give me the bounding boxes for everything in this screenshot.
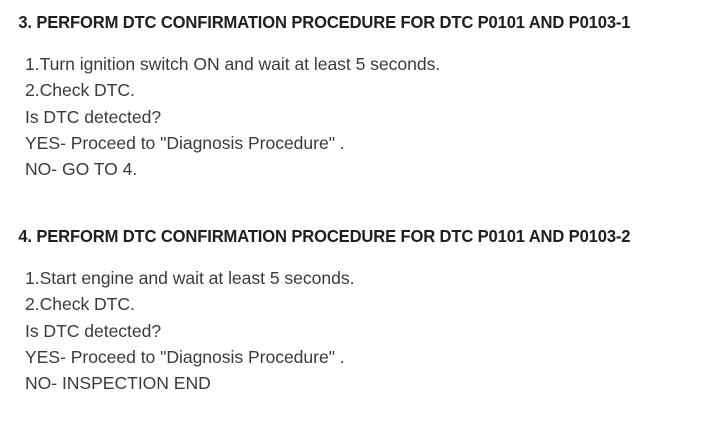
section-4-answer-no: NO- INSPECTION END	[25, 370, 725, 396]
section-3-step-2: 2.Check DTC.	[25, 77, 725, 103]
section-4-heading: 4. PERFORM DTC CONFIRMATION PROCEDURE FO…	[0, 224, 700, 248]
procedure-section-3: 3. PERFORM DTC CONFIRMATION PROCEDURE FO…	[0, 10, 725, 182]
procedure-section-4: 4. PERFORM DTC CONFIRMATION PROCEDURE FO…	[0, 224, 725, 396]
section-3-answer-no: NO- GO TO 4.	[25, 156, 725, 182]
section-4-step-2: 2.Check DTC.	[25, 291, 725, 317]
section-4-question: Is DTC detected?	[25, 318, 725, 344]
document-page: 3. PERFORM DTC CONFIRMATION PROCEDURE FO…	[0, 0, 725, 423]
section-3-step-1: 1.Turn ignition switch ON and wait at le…	[25, 51, 725, 77]
section-4-body: 1.Start engine and wait at least 5 secon…	[0, 248, 725, 396]
section-3-answer-yes: YES- Proceed to "Diagnosis Procedure" .	[25, 130, 725, 156]
section-4-answer-yes: YES- Proceed to "Diagnosis Procedure" .	[25, 344, 725, 370]
section-4-step-1: 1.Start engine and wait at least 5 secon…	[25, 265, 725, 291]
section-3-heading: 3. PERFORM DTC CONFIRMATION PROCEDURE FO…	[0, 10, 700, 34]
section-3-body: 1.Turn ignition switch ON and wait at le…	[0, 34, 725, 182]
section-3-question: Is DTC detected?	[25, 104, 725, 130]
